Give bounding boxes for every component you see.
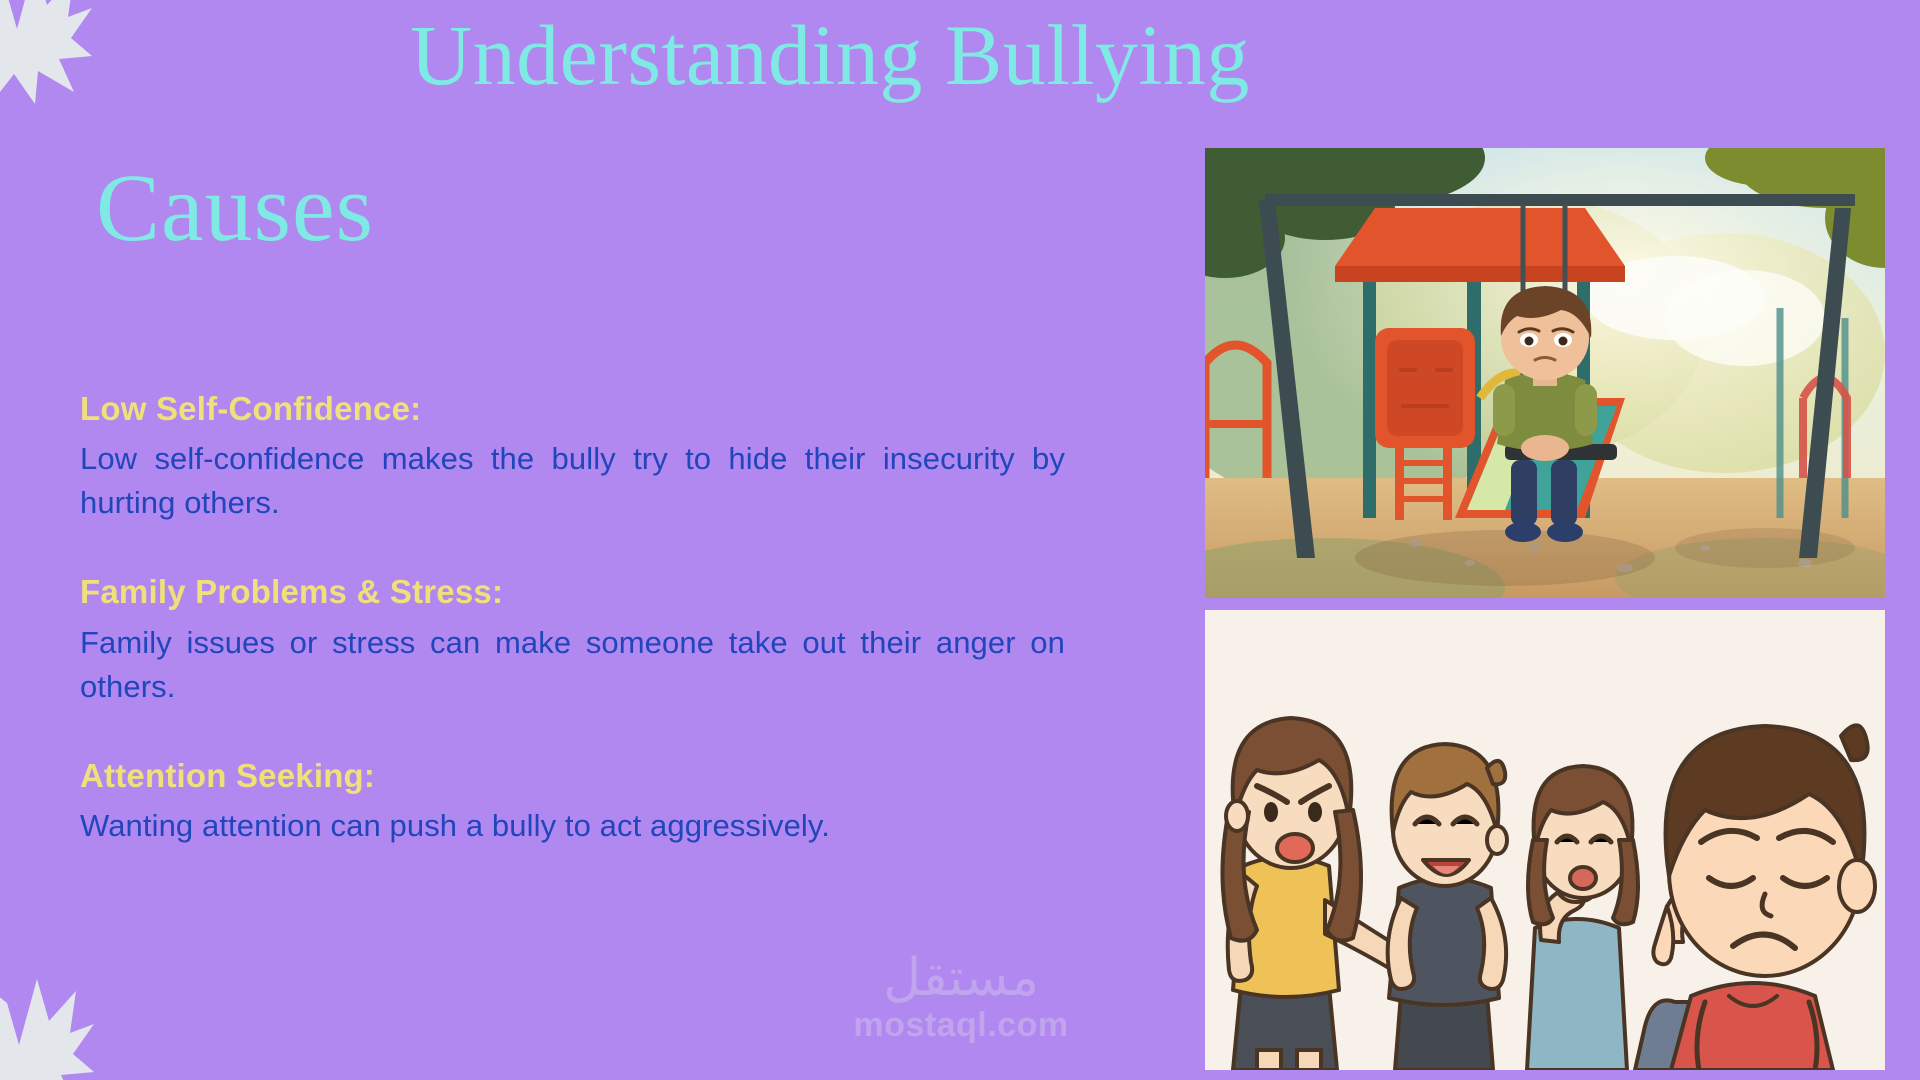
point-family-problems-stress: Family Problems & Stress: Family issues … [80, 571, 1065, 708]
point-title: Family Problems & Stress: [80, 571, 1065, 612]
point-body: Family issues or stress can make someone… [80, 621, 1065, 709]
page-title: Understanding Bullying [300, 10, 1360, 100]
watermark-latin: mostaql.com [836, 1006, 1086, 1045]
point-low-self-confidence: Low Self-Confidence: Low self-confidence… [80, 388, 1065, 525]
starburst-bottom-left-icon [0, 970, 94, 1080]
watermark-arabic: مستقل [836, 952, 1086, 1004]
point-title: Low Self-Confidence: [80, 388, 1065, 429]
point-body: Wanting attention can push a bully to ac… [80, 804, 1065, 848]
content-column: Low Self-Confidence: Low self-confidence… [80, 388, 1065, 848]
starburst-top-left-icon [0, 0, 92, 104]
slide-canvas: Understanding Bullying Causes Low Self-C… [0, 0, 1920, 1080]
point-title: Attention Seeking: [80, 755, 1065, 796]
image-children-bullying-sad-boy [1205, 610, 1885, 1070]
point-attention-seeking: Attention Seeking: Wanting attention can… [80, 755, 1065, 848]
point-body: Low self-confidence makes the bully try … [80, 437, 1065, 525]
watermark: مستقل mostaql.com [836, 952, 1086, 1045]
section-heading: Causes [96, 160, 374, 256]
image-sad-boy-on-swing-playground [1205, 148, 1885, 598]
